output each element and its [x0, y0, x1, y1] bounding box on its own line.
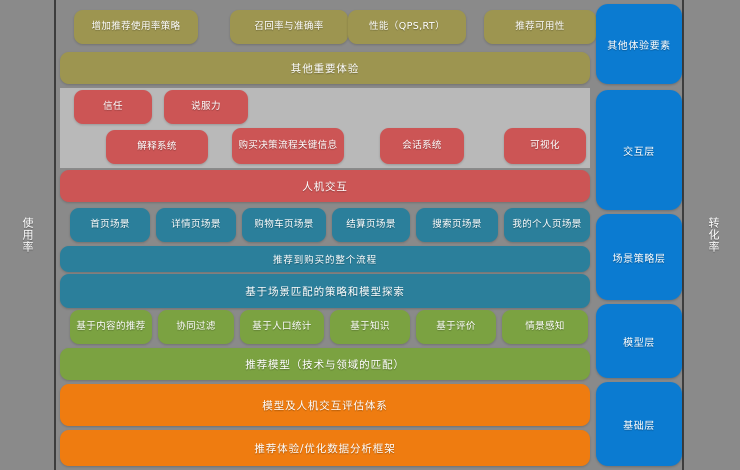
scenario-chip[interactable]: 结算页场景 — [332, 208, 410, 242]
layer-other-experience[interactable]: 其他体验要素 — [596, 4, 682, 84]
model-chip[interactable]: 协同过滤 — [158, 310, 234, 344]
architecture-stack: 增加推荐使用率策略 召回率与准确率 性能（QPS,RT） 推荐可用性 其他重要体… — [60, 0, 590, 470]
model-summary-bar[interactable]: 推荐模型（技术与领域的匹配） — [60, 348, 590, 380]
layer-model[interactable]: 模型层 — [596, 304, 682, 378]
model-chip[interactable]: 情景感知 — [502, 310, 588, 344]
right-axis-label: 转化率 — [705, 217, 721, 253]
left-axis-rail: 使用率 — [0, 0, 56, 470]
hci-chip[interactable]: 信任 — [74, 90, 152, 124]
hci-chip[interactable]: 说服力 — [164, 90, 248, 124]
model-chip[interactable]: 基于内容的推荐 — [70, 310, 152, 344]
evaluation-system-bar[interactable]: 模型及人机交互评估体系 — [60, 384, 590, 426]
hci-chip[interactable]: 会话系统 — [380, 128, 464, 164]
scenario-chip[interactable]: 购物车页场景 — [242, 208, 326, 242]
experience-chip[interactable]: 召回率与准确率 — [230, 10, 348, 44]
left-axis-label: 使用率 — [19, 217, 35, 253]
hci-summary-bar[interactable]: 人机交互 — [60, 170, 590, 202]
layer-foundation[interactable]: 基础层 — [596, 382, 682, 466]
scenario-strategy-bar[interactable]: 基于场景匹配的策略和模型探索 — [60, 274, 590, 308]
experience-chip[interactable]: 性能（QPS,RT） — [348, 10, 466, 44]
layer-interaction[interactable]: 交互层 — [596, 90, 682, 210]
hci-chip[interactable]: 解释系统 — [106, 130, 208, 164]
experience-chip[interactable]: 推荐可用性 — [484, 10, 596, 44]
scenario-chip[interactable]: 搜索页场景 — [416, 208, 498, 242]
layer-scenario-strategy[interactable]: 场景策略层 — [596, 214, 682, 300]
scenario-chip[interactable]: 详情页场景 — [156, 208, 236, 242]
model-chip[interactable]: 基于评价 — [416, 310, 496, 344]
right-axis-rail: 转化率 — [686, 0, 740, 470]
hci-chip[interactable]: 购买决策流程关键信息 — [232, 128, 344, 164]
experience-summary-bar[interactable]: 其他重要体验 — [60, 52, 590, 84]
analytics-framework-bar[interactable]: 推荐体验/优化数据分析框架 — [60, 430, 590, 466]
scenario-chip[interactable]: 首页场景 — [70, 208, 150, 242]
model-chip[interactable]: 基于人口统计 — [240, 310, 324, 344]
diagram-canvas: 使用率 增加推荐使用率策略 召回率与准确率 性能（QPS,RT） 推荐可用性 其… — [0, 0, 740, 470]
experience-chip[interactable]: 增加推荐使用率策略 — [74, 10, 198, 44]
layer-legend-column: 其他体验要素 交互层 场景策略层 模型层 基础层 — [596, 0, 684, 470]
scenario-chip[interactable]: 我的个人页场景 — [504, 208, 590, 242]
hci-chip[interactable]: 可视化 — [504, 128, 586, 164]
model-chip[interactable]: 基于知识 — [330, 310, 410, 344]
scenario-flow-bar[interactable]: 推荐到购买的整个流程 — [60, 246, 590, 272]
